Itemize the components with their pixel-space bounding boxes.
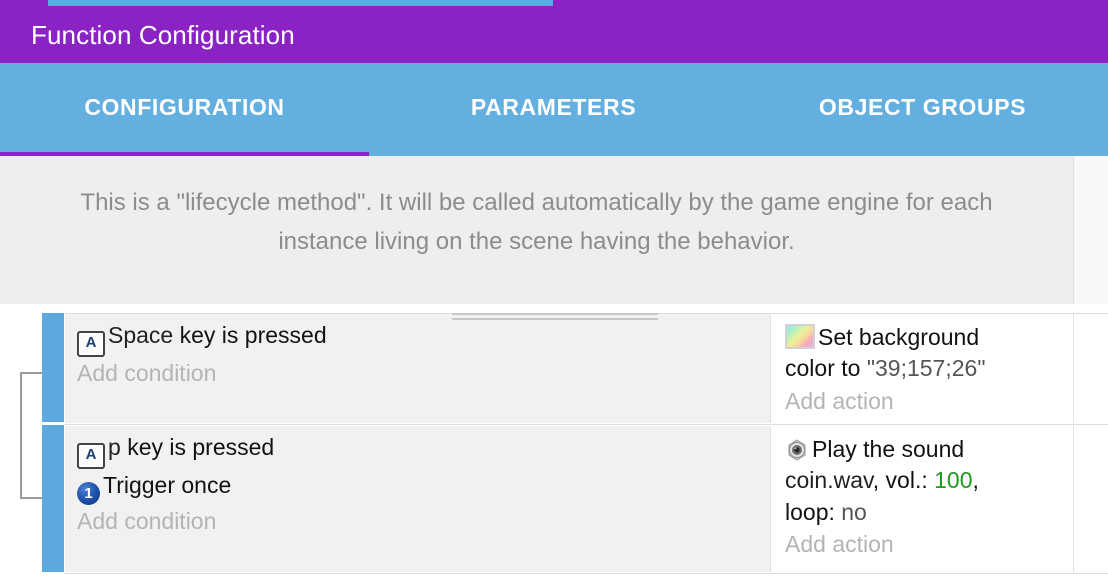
condition-key-name: Space — [108, 322, 173, 348]
action-volume-value: 100 — [934, 467, 972, 493]
action-color-value: "39;157;26" — [867, 355, 986, 381]
keyboard-key-icon: A — [77, 443, 105, 469]
add-action-button[interactable]: Add action — [785, 529, 1073, 560]
column-resize-handle[interactable] — [452, 313, 658, 324]
keyboard-key-icon: A — [77, 331, 105, 357]
events-sheet: ASpace key is pressed Add condition Set … — [0, 304, 1108, 578]
lifecycle-description-text: This is a "lifecycle method". It will be… — [60, 184, 1013, 262]
tab-configuration[interactable]: CONFIGURATION — [0, 63, 369, 152]
actions-right-gutter — [1073, 426, 1108, 572]
action-text-prefix: Set background — [818, 324, 979, 350]
event-drag-bar[interactable] — [42, 425, 64, 572]
row-separator-middle — [65, 424, 1108, 425]
tabbar: CONFIGURATION PARAMETERS OBJECT GROUPS — [0, 63, 1108, 156]
actions-right-gutter — [1073, 314, 1108, 423]
action-volume-label: , vol.: — [873, 467, 934, 493]
action-loop-value: no — [841, 499, 867, 525]
resize-handle-line — [452, 318, 658, 320]
condition-trigger-once-label: Trigger once — [103, 472, 231, 498]
condition-item[interactable]: Ap key is pressed — [77, 432, 770, 469]
action-sound-file: coin.wav — [785, 467, 873, 493]
action-loop-label: loop: — [785, 499, 841, 525]
tab-parameters[interactable]: PARAMETERS — [369, 63, 738, 152]
row-separator-bottom — [65, 573, 1108, 574]
tab-object-groups[interactable]: OBJECT GROUPS — [738, 63, 1107, 152]
action-volume-comma: , — [973, 467, 979, 493]
condition-key-suffix: key is pressed — [127, 434, 274, 460]
action-text-prefix: Play the sound — [812, 436, 964, 462]
resize-handle-line — [452, 313, 658, 315]
condition-item[interactable]: ASpace key is pressed — [77, 320, 770, 357]
tab-list: CONFIGURATION PARAMETERS OBJECT GROUPS — [0, 63, 1108, 152]
condition-key-suffix: key is pressed — [180, 322, 327, 348]
action-item[interactable]: Play the soundcoin.wav, vol.: 100,loop: … — [785, 434, 1073, 528]
add-condition-button[interactable]: Add condition — [77, 358, 770, 389]
lifecycle-description-panel: This is a "lifecycle method". It will be… — [0, 156, 1073, 304]
conditions-cell[interactable]: Ap key is pressed 1Trigger once Add cond… — [65, 426, 770, 572]
event-drag-bar[interactable] — [42, 313, 64, 422]
page-title: Function Configuration — [0, 22, 295, 48]
actions-cell[interactable]: Set backgroundcolor to "39;157;26" Add a… — [770, 314, 1073, 423]
action-item[interactable]: Set backgroundcolor to "39;157;26" — [785, 322, 1073, 385]
add-action-button[interactable]: Add action — [785, 386, 1073, 417]
condition-key-name: p — [108, 434, 121, 460]
color-palette-icon — [785, 324, 815, 349]
trigger-once-icon: 1 — [77, 482, 100, 505]
speaker-icon — [785, 439, 809, 461]
actions-cell[interactable]: Play the soundcoin.wav, vol.: 100,loop: … — [770, 426, 1073, 572]
description-right-gutter — [1073, 156, 1108, 304]
add-condition-button[interactable]: Add condition — [77, 506, 770, 537]
window-titlebar: Function Configuration — [0, 6, 1108, 63]
events-tree-bracket — [20, 372, 44, 499]
condition-item[interactable]: 1Trigger once — [77, 470, 770, 505]
function-configuration-window: Function Configuration CONFIGURATION PAR… — [0, 0, 1108, 578]
conditions-cell[interactable]: ASpace key is pressed Add condition — [65, 314, 770, 423]
action-text-continuation: color to — [785, 355, 867, 381]
